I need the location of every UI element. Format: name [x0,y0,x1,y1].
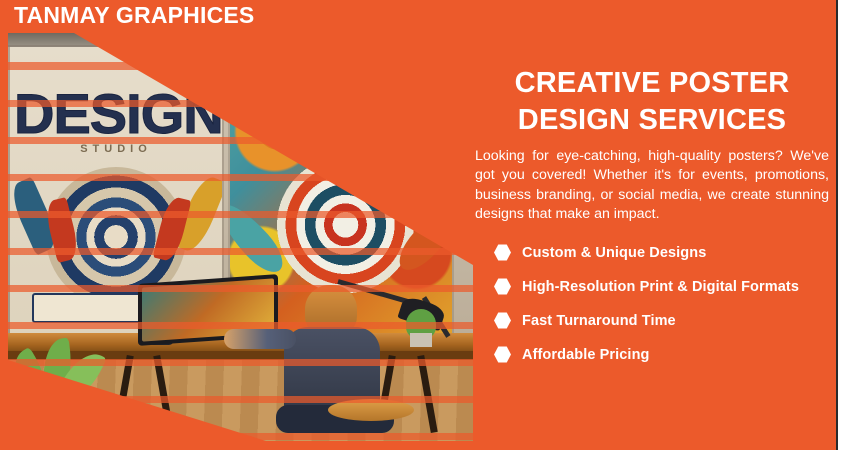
feature-label: Affordable Pricing [522,347,649,363]
mural-feather [230,196,291,280]
brand-header: TANMAY GRAPHICES [0,0,838,33]
stool-seat [328,399,414,421]
feature-label: Fast Turnaround Time [522,313,676,329]
brand-name: TANMAY GRAPHICES [14,2,254,29]
list-item: Affordable Pricing [494,338,834,372]
feature-label: Custom & Unique Designs [522,245,706,261]
hexagon-bullet-icon [494,244,511,261]
hexagon-bullet-icon [494,312,511,329]
headline-line-1: CREATIVE POSTER [466,65,838,102]
poster-canvas: DESIGN STUDIO [0,0,850,450]
list-item: High-Resolution Print & Digital Formats [494,270,834,304]
feature-list: Custom & Unique Designs High-Resolution … [494,236,834,372]
list-item: Custom & Unique Designs [494,236,834,270]
content-column: CREATIVE POSTER DESIGN SERVICES Looking … [466,33,838,441]
small-plant-pot [410,333,432,347]
studio-photo: DESIGN STUDIO [8,33,473,441]
poster-design-subword: STUDIO [10,143,222,155]
description-text: Looking for eye-catching, high-quality p… [475,147,829,224]
page-title: CREATIVE POSTER DESIGN SERVICES [466,65,838,139]
feature-label: High-Resolution Print & Digital Formats [522,279,799,295]
hexagon-bullet-icon [494,278,511,295]
person-arm [224,329,296,349]
list-item: Fast Turnaround Time [494,304,834,338]
headline-line-2: DESIGN SERVICES [466,102,838,139]
desk-edge [8,351,473,360]
hexagon-bullet-icon [494,346,511,363]
